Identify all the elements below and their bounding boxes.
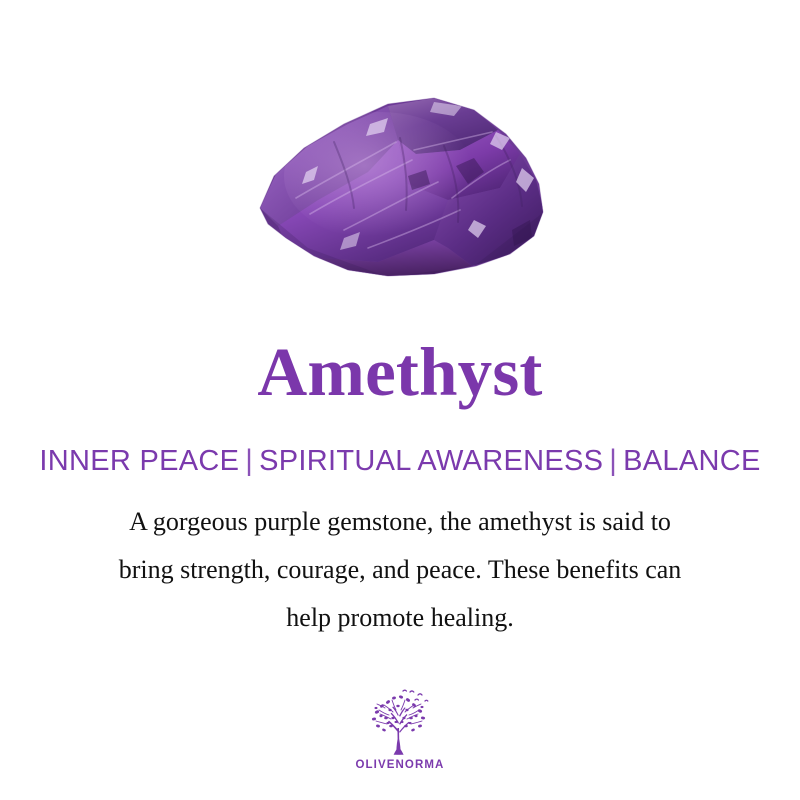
- keyword-list: INNER PEACE|SPIRITUAL AWARENESS|BALANCE: [0, 443, 800, 479]
- keyword-separator-2: |: [603, 443, 623, 480]
- amethyst-crystal-image: [248, 80, 552, 292]
- amethyst-info-card: Amethyst INNER PEACE|SPIRITUAL AWARENESS…: [0, 0, 800, 800]
- tree-icon: [363, 688, 437, 756]
- description-line: bring strength, courage, and peace. Thes…: [60, 546, 740, 594]
- description-text: A gorgeous purple gemstone, the amethyst…: [60, 498, 740, 642]
- description-line: help promote healing.: [60, 594, 740, 642]
- description-line: A gorgeous purple gemstone, the amethyst…: [60, 498, 740, 546]
- brand-logo: OLIVENORMA: [0, 688, 800, 771]
- keyword-separator-1: |: [239, 443, 259, 480]
- page-title: Amethyst: [0, 334, 800, 410]
- brand-wordmark: OLIVENORMA: [0, 759, 800, 771]
- keyword-spiritual-awareness: SPIRITUAL AWARENESS: [259, 445, 603, 477]
- keyword-inner-peace: INNER PEACE: [39, 445, 239, 477]
- amethyst-crystal-icon: [248, 80, 552, 292]
- keyword-balance: BALANCE: [623, 445, 761, 477]
